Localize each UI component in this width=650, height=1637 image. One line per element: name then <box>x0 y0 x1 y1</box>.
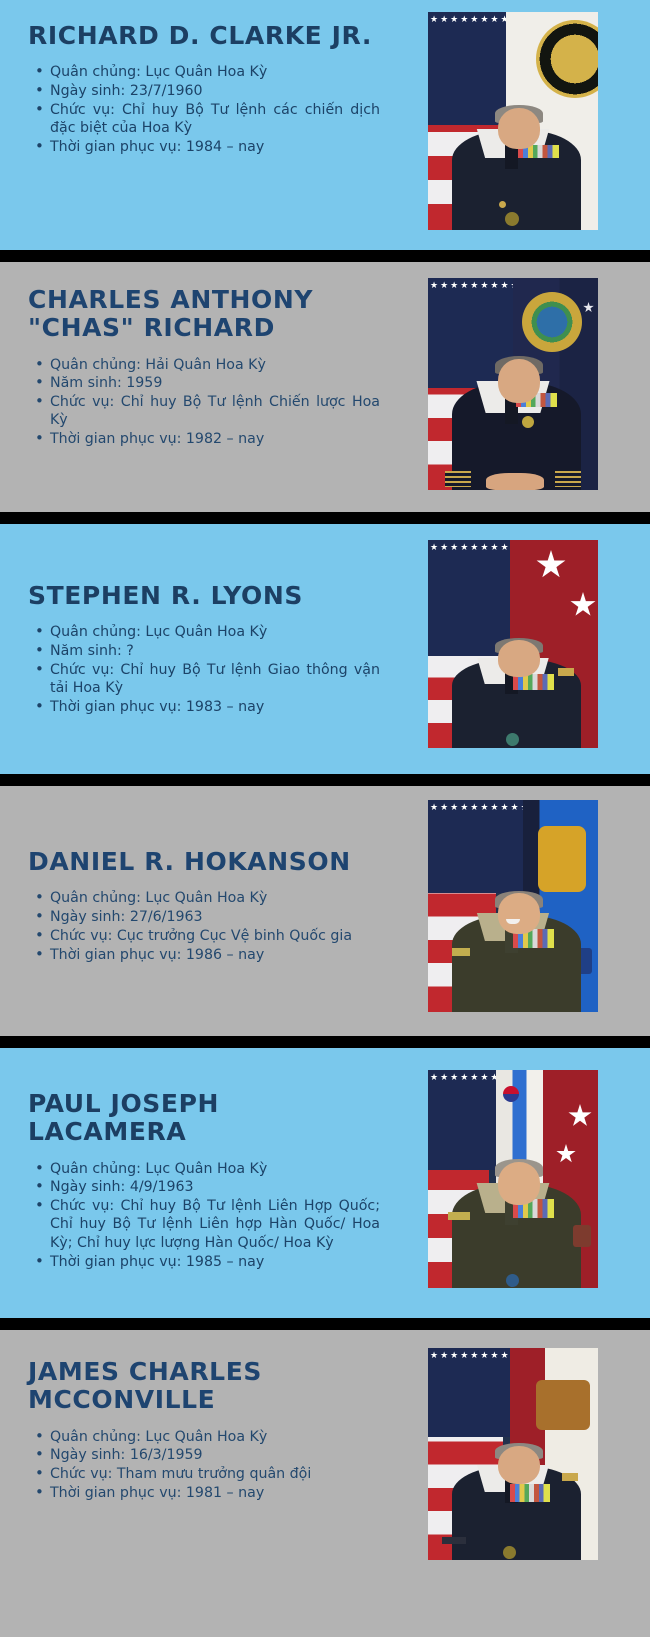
marksmanship-badge-icon <box>452 948 470 956</box>
list-item: Quân chủng: Lục Quân Hoa Kỳ <box>28 1160 394 1178</box>
unit-crest-icon <box>506 733 519 746</box>
profile-card-james-charles-mcconville: JAMES CHARLES MCCONVILLE Quân chủng: Lục… <box>0 1330 650 1637</box>
portrait-subject <box>428 1162 598 1288</box>
card-photo-column: ★★★★★★★★★★★★★★ <box>400 1358 650 1560</box>
portrait-photo-daniel-r-hokanson: ★★★★★★★★★★★★★★★★ <box>428 800 598 1012</box>
list-item: Ngày sinh: 16/3/1959 <box>28 1446 394 1464</box>
portrait-subject <box>428 640 598 748</box>
card-text-column: PAUL JOSEPH LACAMERA Quân chủng: Lục Quâ… <box>0 1090 400 1271</box>
face <box>498 1162 541 1205</box>
card-text-column: RICHARD D. CLARKE JR. Quân chủng: Lục Qu… <box>0 22 400 157</box>
list-item: Chức vụ: Chỉ huy Bộ Tư lệnh các chiến dị… <box>28 101 394 138</box>
card-text-column: CHARLES ANTHONY "CHAS" RICHARD Quân chủn… <box>0 286 400 449</box>
list-item: Chức vụ: Chỉ huy Bộ Tư lệnh Chiến lược H… <box>28 393 394 430</box>
list-item: Thời gian phục vụ: 1985 – nay <box>28 1253 394 1271</box>
portrait-subject <box>428 1446 598 1560</box>
list-item: Thời gian phục vụ: 1984 – nay <box>28 138 394 156</box>
card-photo-column: ★★★★★★★★★★★★★★★★ <box>400 848 650 1012</box>
list-item: Thời gian phục vụ: 1983 – nay <box>28 698 394 716</box>
list-item: Chức vụ: Chỉ huy Bộ Tư lệnh Giao thông v… <box>28 661 394 698</box>
korea-flag-circle-icon <box>503 1086 519 1102</box>
section-divider <box>0 1036 650 1048</box>
profile-detail-list: Quân chủng: Lục Quân Hoa Kỳ Ngày sinh: 2… <box>28 63 394 156</box>
page-title: RICHARD D. CLARKE JR. <box>28 22 394 50</box>
list-item: Quân chủng: Lục Quân Hoa Kỳ <box>28 889 394 907</box>
card-photo-column: ★★★★★★★★★★★★★★★★★★★★★★★★ <box>400 22 650 230</box>
list-item: Thời gian phục vụ: 1986 – nay <box>28 946 394 964</box>
profile-card-daniel-r-hokanson: DANIEL R. HOKANSON Quân chủng: Lục Quân … <box>0 786 650 1036</box>
profile-card-stephen-r-lyons: STEPHEN R. LYONS Quân chủng: Lục Quân Ho… <box>0 524 650 774</box>
card-text-column: DANIEL R. HOKANSON Quân chủng: Lục Quân … <box>0 848 400 965</box>
list-item: Quân chủng: Lục Quân Hoa Kỳ <box>28 1428 394 1446</box>
nameplate <box>442 1537 466 1544</box>
rank-insignia-icon <box>558 668 574 676</box>
list-item: Quân chủng: Lục Quân Hoa Kỳ <box>28 623 394 641</box>
parachutist-wings-icon <box>448 1212 470 1220</box>
page-title: STEPHEN R. LYONS <box>28 582 394 610</box>
sleeve-stripes-right <box>555 471 581 487</box>
national-guard-emblem-icon <box>538 826 586 892</box>
card-text-column: STEPHEN R. LYONS Quân chủng: Lục Quân Ho… <box>0 582 400 717</box>
list-item: Chức vụ: Tham mưu trưởng quân đội <box>28 1465 394 1483</box>
portrait-subject <box>428 893 598 1012</box>
list-item: Quân chủng: Lục Quân Hoa Kỳ <box>28 63 394 81</box>
list-item: Chức vụ: Cục trưởng Cục Vệ binh Quốc gia <box>28 927 394 945</box>
profile-detail-list: Quân chủng: Lục Quân Hoa Kỳ Ngày sinh: 1… <box>28 1428 394 1503</box>
page-title: PAUL JOSEPH LACAMERA <box>28 1090 248 1147</box>
army-eagle-emblem-icon <box>536 1380 590 1430</box>
profile-detail-list: Quân chủng: Lục Quân Hoa Kỳ Ngày sinh: 4… <box>28 1160 394 1271</box>
shoulder-patch-icon <box>573 1225 591 1247</box>
list-item: Năm sinh: ? <box>28 642 394 660</box>
unit-crest-icon <box>505 212 519 226</box>
page-title: DANIEL R. HOKANSON <box>28 848 394 876</box>
card-text-column: JAMES CHARLES MCCONVILLE Quân chủng: Lục… <box>0 1358 400 1503</box>
list-item: Ngày sinh: 27/6/1963 <box>28 908 394 926</box>
section-divider <box>0 1318 650 1330</box>
page-title: JAMES CHARLES MCCONVILLE <box>28 1358 278 1415</box>
list-item: Thời gian phục vụ: 1982 – nay <box>28 430 394 448</box>
medal-icon <box>522 416 534 428</box>
profile-card-paul-joseph-lacamera: PAUL JOSEPH LACAMERA Quân chủng: Lục Quâ… <box>0 1048 650 1318</box>
rank-insignia-icon <box>562 1473 578 1481</box>
portrait-photo-paul-joseph-lacamera: ★★★★★★★★★★★★★★★★★★ <box>428 1070 598 1288</box>
portrait-photo-stephen-r-lyons: ★★★★★★★★★★★★★★★★★★★★★★★★ <box>428 540 598 748</box>
list-item: Thời gian phục vụ: 1981 – nay <box>28 1484 394 1502</box>
face <box>498 893 541 933</box>
list-item: Ngày sinh: 4/9/1963 <box>28 1178 394 1196</box>
portrait-photo-charles-anthony-chas-richard: ★★★★★★★★★★★★★★★★★★★★ <box>428 278 598 490</box>
section-divider <box>0 774 650 786</box>
ribbon-rack <box>513 674 554 689</box>
profile-detail-list: Quân chủng: Hải Quân Hoa Kỳ Năm sinh: 19… <box>28 356 394 449</box>
profile-detail-list: Quân chủng: Lục Quân Hoa Kỳ Năm sinh: ? … <box>28 623 394 716</box>
card-photo-column: ★★★★★★★★★★★★★★★★★★★★ <box>400 286 650 490</box>
section-divider <box>0 512 650 524</box>
section-divider <box>0 250 650 262</box>
portrait-subject <box>428 359 598 490</box>
list-item: Ngày sinh: 23/7/1960 <box>28 82 394 100</box>
profile-card-richard-d-clarke-jr: RICHARD D. CLARKE JR. Quân chủng: Lục Qu… <box>0 0 650 250</box>
unit-crest-icon <box>506 1274 519 1287</box>
list-item: Chức vụ: Chỉ huy Bộ Tư lệnh Liên Hợp Quố… <box>28 1197 394 1252</box>
list-item: Quân chủng: Hải Quân Hoa Kỳ <box>28 356 394 374</box>
ribbon-rack <box>510 1484 551 1501</box>
unit-crest-icon <box>503 1546 516 1559</box>
stratcom-seal-icon <box>522 292 582 352</box>
face <box>498 640 541 677</box>
portrait-photo-richard-d-clarke-jr: ★★★★★★★★★★★★★★★★★★★★★★★★ <box>428 12 598 230</box>
infographic-root: RICHARD D. CLARKE JR. Quân chủng: Lục Qu… <box>0 0 650 1625</box>
page-title: CHARLES ANTHONY "CHAS" RICHARD <box>28 286 318 343</box>
sleeve-stripes-left <box>445 471 471 487</box>
portrait-photo-james-charles-mcconville: ★★★★★★★★★★★★★★ <box>428 1348 598 1560</box>
clasped-hands <box>486 473 544 490</box>
card-photo-column: ★★★★★★★★★★★★★★★★★★ <box>400 1090 650 1288</box>
profile-detail-list: Quân chủng: Lục Quân Hoa Kỳ Ngày sinh: 2… <box>28 889 394 964</box>
face <box>498 359 541 404</box>
portrait-subject <box>428 108 598 230</box>
face <box>498 108 541 150</box>
card-photo-column: ★★★★★★★★★★★★★★★★★★★★★★★★ <box>400 582 650 748</box>
profile-card-charles-anthony-chas-richard: CHARLES ANTHONY "CHAS" RICHARD Quân chủn… <box>0 262 650 512</box>
face <box>498 1446 541 1485</box>
list-item: Năm sinh: 1959 <box>28 374 394 392</box>
